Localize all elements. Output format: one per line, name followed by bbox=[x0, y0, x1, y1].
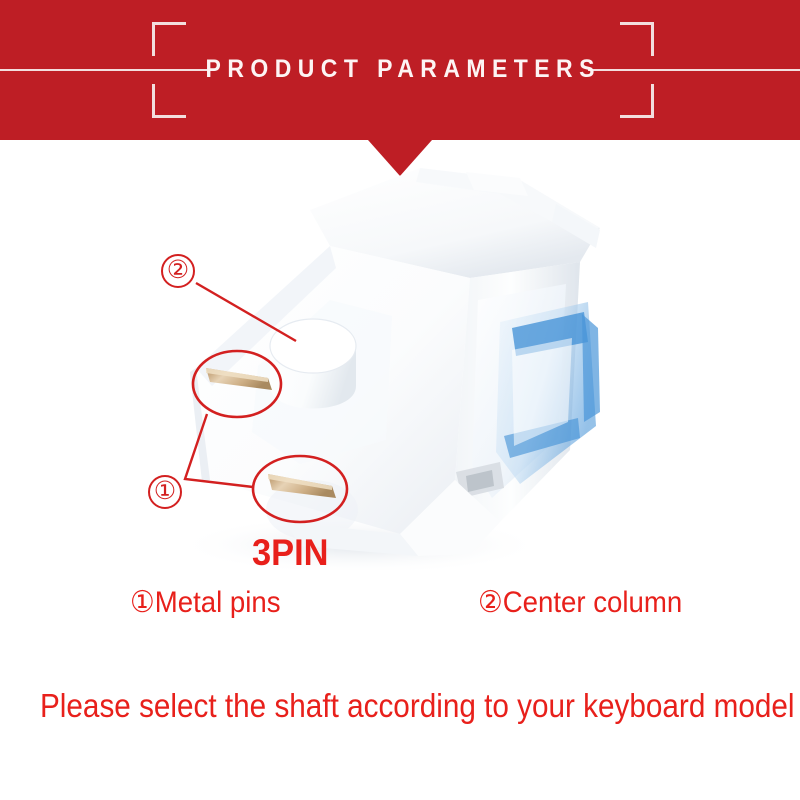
pin-count-label: 3PIN bbox=[252, 532, 329, 574]
legend-2-number: ② bbox=[478, 585, 503, 620]
bracket-corner-bottom-left bbox=[152, 84, 186, 118]
bracket-corner-bottom-right bbox=[620, 84, 654, 118]
header-banner: PRODUCT PARAMETERS bbox=[0, 0, 800, 140]
legend-item-metal-pins: ①Metal pins bbox=[130, 586, 281, 620]
bracket-corner-top-right bbox=[620, 22, 654, 56]
product-parameters-infographic: PRODUCT PARAMETERS bbox=[0, 0, 800, 800]
legend-2-label: Center column bbox=[503, 586, 682, 619]
switch-blue-edge bbox=[582, 314, 600, 422]
marker-2-center-column: ② bbox=[161, 254, 195, 288]
legend-item-center-column: ②Center column bbox=[478, 586, 682, 620]
keyboard-switch-illustration bbox=[0, 150, 800, 570]
bracket-corner-top-left bbox=[152, 22, 186, 56]
legend-1-label: Metal pins bbox=[155, 586, 281, 619]
footer-note: Please select the shaft according to you… bbox=[40, 686, 760, 726]
legend-1-number: ① bbox=[130, 585, 155, 620]
marker-1-metal-pins: ① bbox=[148, 475, 182, 509]
page-title: PRODUCT PARAMETERS bbox=[32, 53, 768, 85]
product-photo bbox=[0, 150, 800, 570]
